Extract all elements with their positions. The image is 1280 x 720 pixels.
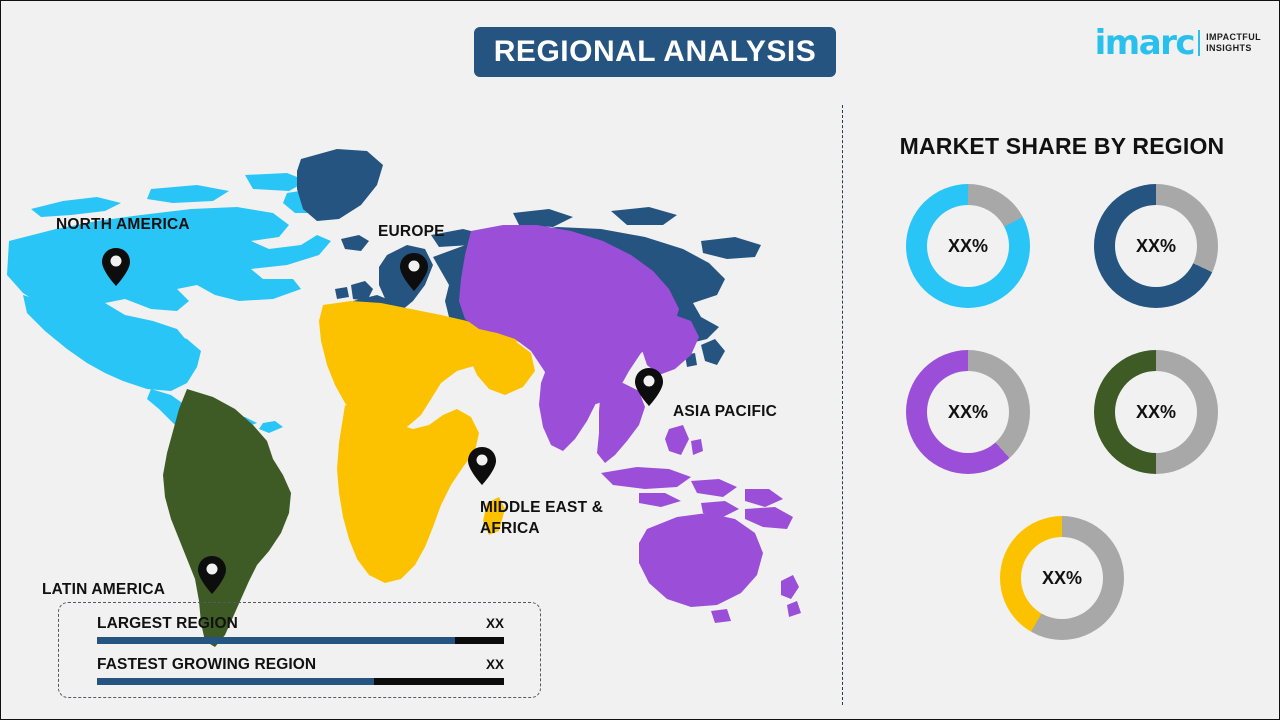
donut-center: XX% xyxy=(927,205,1009,287)
legend-progress-fill xyxy=(97,637,455,644)
map-region-asia-pacific xyxy=(459,225,801,623)
map-pin-asia-pacific-icon xyxy=(634,367,664,407)
world-map-panel: NORTH AMERICA EUROPE ASIA PACIFIC MIDDLE… xyxy=(1,89,831,649)
map-label-europe: EUROPE xyxy=(378,222,445,243)
legend-progress-track xyxy=(97,637,504,644)
donut-chart-grid: XX% XX% XX% XX% XX% xyxy=(843,184,1280,640)
legend-value: XX xyxy=(486,657,504,672)
market-share-panel: MARKET SHARE BY REGION XX% XX% XX% XX% xyxy=(843,105,1280,705)
logo-divider-icon xyxy=(1198,30,1200,56)
legend-row-largest-region: LARGEST REGION XX xyxy=(97,615,504,644)
map-label-middle-east-africa: MIDDLE EAST & AFRICA xyxy=(480,498,603,540)
logo-tagline-line2: INSIGHTS xyxy=(1206,43,1261,54)
legend-row-fastest-growing-region: FASTEST GROWING REGION XX xyxy=(97,656,504,685)
map-pin-north-america-icon xyxy=(101,247,131,287)
legend-label: LARGEST REGION xyxy=(97,615,238,633)
legend-value: XX xyxy=(486,616,504,631)
donut-row-last: XX% xyxy=(867,516,1257,640)
logo-wordmark: imarc xyxy=(1095,26,1194,60)
donut-chart-asia-pacific: XX% xyxy=(906,350,1030,474)
donut-center: XX% xyxy=(1115,371,1197,453)
map-pin-middle-east-africa-icon xyxy=(467,446,497,486)
map-label-north-america: NORTH AMERICA xyxy=(56,215,190,236)
map-label-latin-america: LATIN AMERICA xyxy=(42,580,165,601)
regional-analysis-infographic: REGIONAL ANALYSIS imarc IMPACTFUL INSIGH… xyxy=(0,0,1280,720)
legend-progress-track xyxy=(97,678,504,685)
page-title-banner: REGIONAL ANALYSIS xyxy=(474,27,836,77)
map-pin-europe-icon xyxy=(399,252,429,292)
donut-chart-latin-america: XX% xyxy=(1094,350,1218,474)
region-summary-box: LARGEST REGION XX FASTEST GROWING REGION… xyxy=(58,602,541,698)
donut-chart-middle-east-africa: XX% xyxy=(1000,516,1124,640)
legend-label: FASTEST GROWING REGION xyxy=(97,656,316,674)
logo-tagline-line1: IMPACTFUL xyxy=(1206,32,1261,43)
market-share-heading: MARKET SHARE BY REGION xyxy=(843,133,1280,160)
donut-value-label: XX% xyxy=(948,236,988,257)
donut-chart-north-america: XX% xyxy=(906,184,1030,308)
donut-center: XX% xyxy=(927,371,1009,453)
donut-chart-europe: XX% xyxy=(1094,184,1218,308)
legend-progress-fill xyxy=(97,678,374,685)
page-title: REGIONAL ANALYSIS xyxy=(494,35,816,69)
world-map-graphic xyxy=(1,89,831,649)
logo-tagline: IMPACTFUL INSIGHTS xyxy=(1206,32,1261,55)
donut-value-label: XX% xyxy=(1042,568,1082,589)
map-label-asia-pacific: ASIA PACIFIC xyxy=(673,402,777,423)
map-pin-latin-america-icon xyxy=(197,555,227,595)
donut-value-label: XX% xyxy=(948,402,988,423)
donut-center: XX% xyxy=(1115,205,1197,287)
donut-value-label: XX% xyxy=(1136,236,1176,257)
donut-center: XX% xyxy=(1021,537,1103,619)
imarc-logo: imarc IMPACTFUL INSIGHTS xyxy=(1095,23,1261,63)
donut-value-label: XX% xyxy=(1136,402,1176,423)
